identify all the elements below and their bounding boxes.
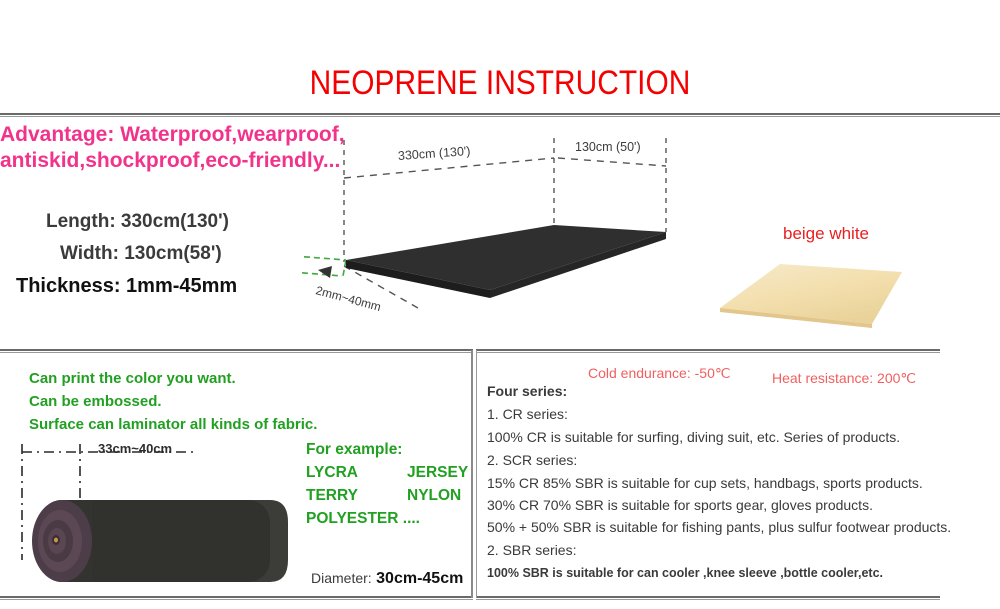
diameter-value: 30cm-45cm: [376, 570, 463, 587]
diameter-label: Diameter:: [311, 570, 372, 586]
series-cr-title: 1. CR series:: [487, 406, 568, 422]
series-scr-desc-1: 15% CR 85% SBR is suitable for cup sets,…: [487, 475, 923, 491]
fabric-jersey: JERSEY: [407, 464, 468, 482]
beige-sample-svg: [712, 252, 944, 330]
spec-thickness: Thickness: 1mm-45mm: [16, 275, 237, 298]
series-sbr-title: 2. SBR series:: [487, 542, 576, 558]
series-scr-desc-2: 30% CR 70% SBR is suitable for sports ge…: [487, 497, 873, 513]
roll-body: [32, 500, 288, 582]
cold-endurance-badge: Cold endurance: -50℃: [588, 365, 731, 382]
series-scr-title: 2. SCR series:: [487, 452, 577, 468]
page-title: NEOPRENE INSTRUCTION: [60, 64, 940, 103]
series-scr-desc-3: 50% + 50% SBR is suitable for fishing pa…: [487, 519, 951, 535]
fabric-nylon: NYLON: [407, 487, 461, 505]
series-heading: Four series:: [487, 383, 567, 399]
header-divider: [0, 113, 1000, 117]
left-panel-bottom-divider: [0, 596, 473, 600]
feature-item-print: Can print the color you want.: [29, 370, 236, 387]
neoprene-roll-image: [0, 430, 300, 596]
sheet-body: [346, 225, 666, 298]
roll-svg: [0, 430, 300, 596]
dimension-width-label: 130cm (50'): [575, 140, 641, 154]
fabric-lycra: LYCRA: [306, 464, 358, 482]
right-panel-bottom-divider: [476, 596, 940, 600]
spec-length: Length: 330cm(130'): [46, 211, 229, 233]
feature-item-emboss: Can be embossed.: [29, 393, 162, 410]
series-cr-desc: 100% CR is suitable for surfing, diving …: [487, 429, 900, 445]
heat-resistance-badge: Heat resistance: 200℃: [772, 370, 916, 387]
right-panel-top-divider: [476, 349, 940, 353]
example-title: For example:: [306, 441, 402, 459]
panel-vertical-divider-right: [476, 350, 477, 598]
beige-white-sample: [712, 252, 944, 330]
left-panel-top-divider: [0, 349, 473, 353]
panel-vertical-divider-left: [471, 350, 473, 598]
series-sbr-desc: 100% SBR is suitable for can cooler ,kne…: [487, 566, 883, 580]
thickness-arrow-icon: [318, 266, 332, 278]
diameter-row: Diameter: 30cm-45cm: [311, 570, 463, 588]
beige-white-label: beige white: [783, 224, 869, 244]
fabric-polyester: POLYESTER ....: [306, 510, 420, 528]
spec-width: Width: 130cm(58'): [60, 243, 222, 265]
fabric-terry: TERRY: [306, 487, 358, 505]
